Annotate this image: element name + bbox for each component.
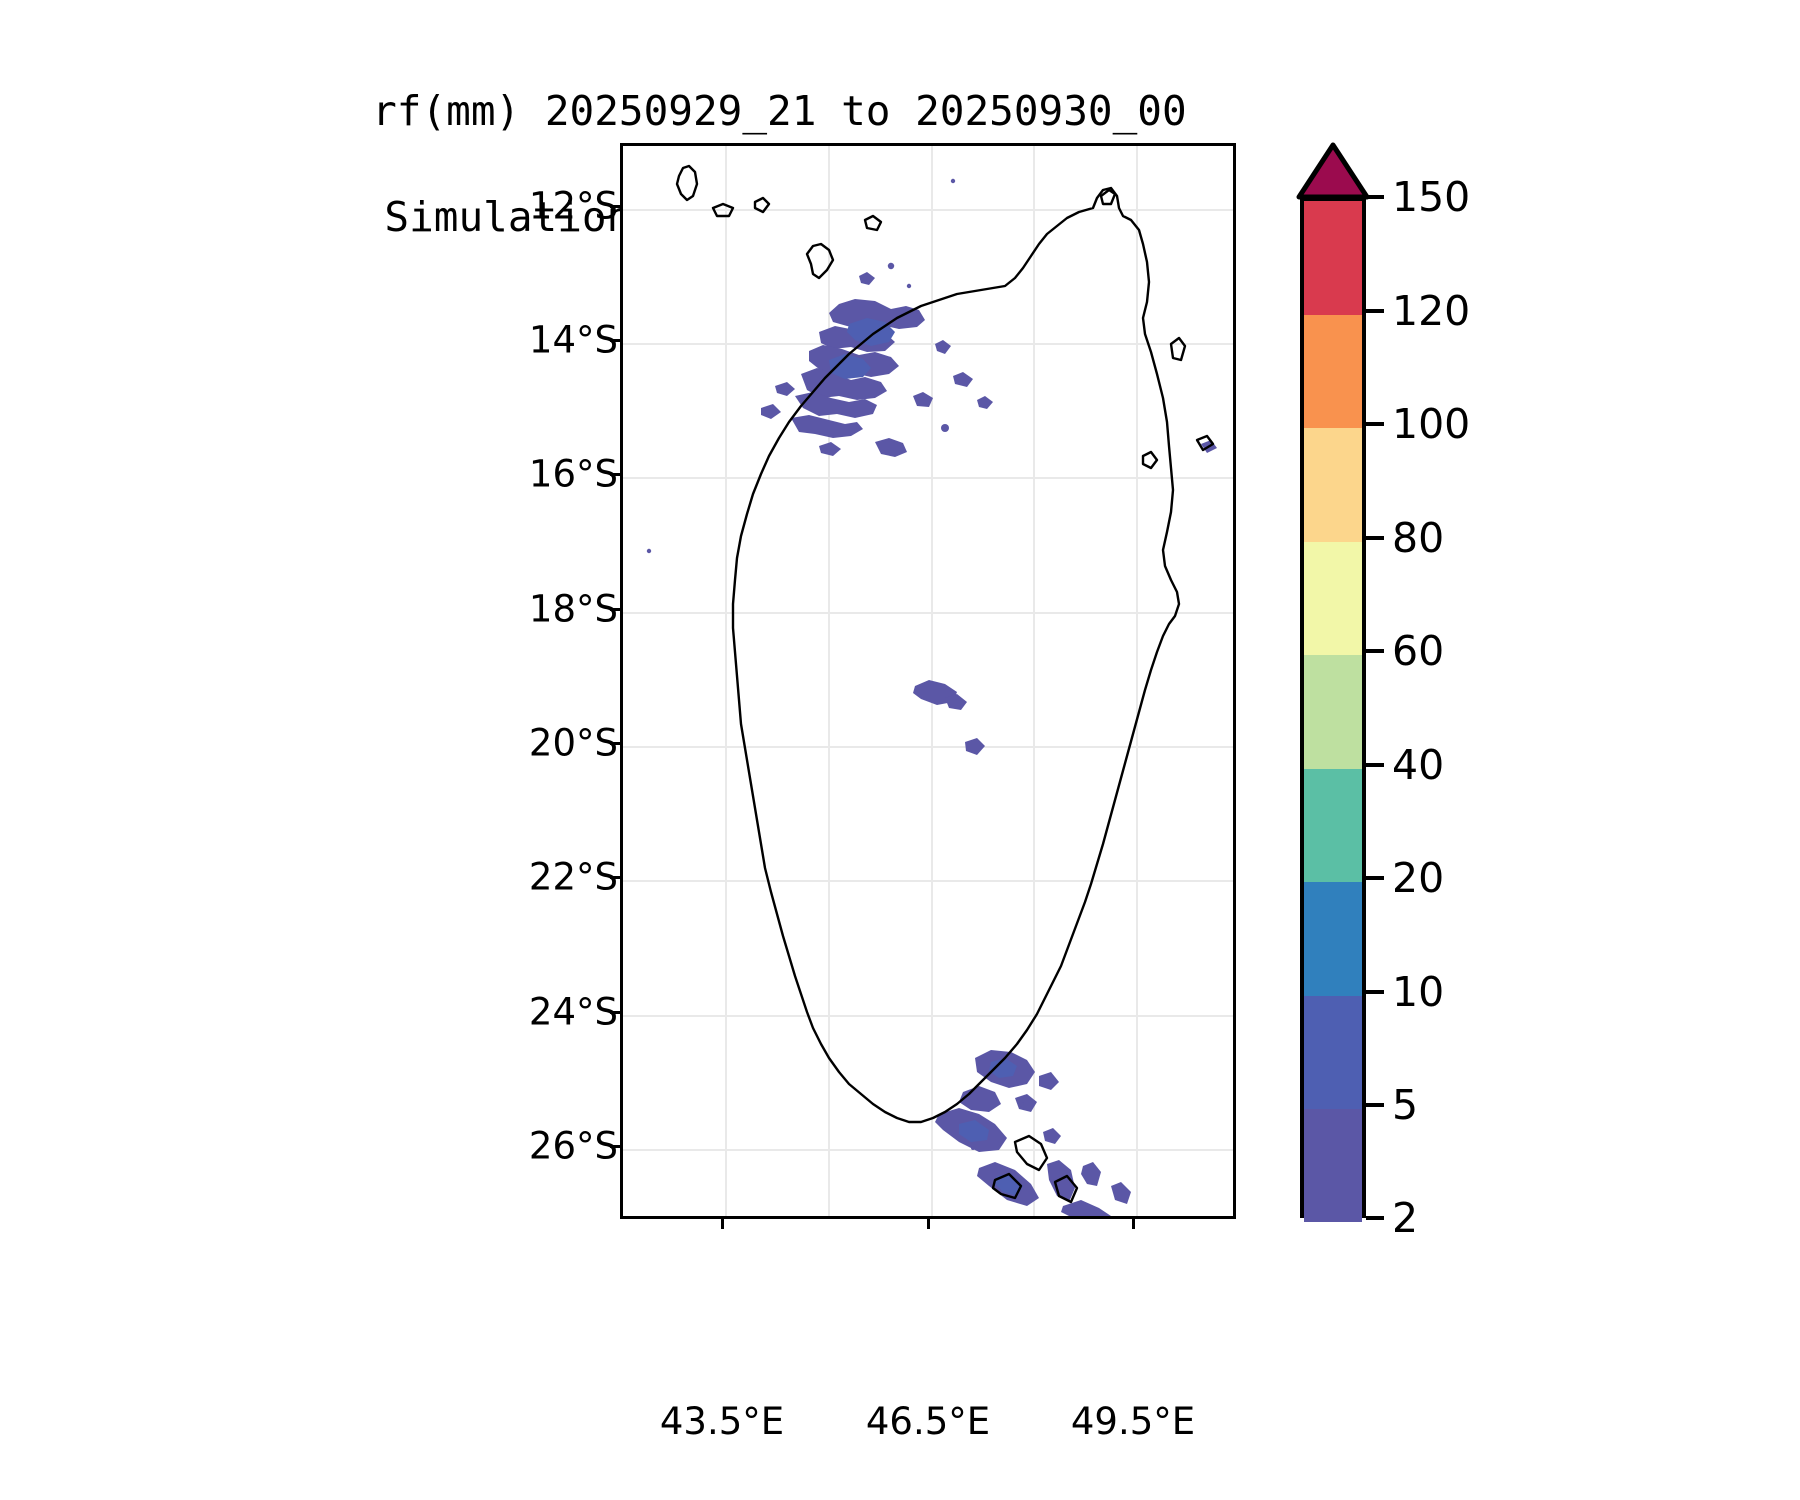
ytick-mark-22S: [610, 876, 620, 879]
colorbar-segment-20-40: [1304, 769, 1362, 882]
ytick-mark-14S: [610, 339, 620, 342]
colorbar-tick-40: [1366, 763, 1384, 767]
colorbar-tick-5: [1366, 1103, 1384, 1107]
ytick-label-26S: 26°S: [529, 1125, 618, 1168]
colorbar-tick-120: [1366, 309, 1384, 313]
colorbar-segment-60-80: [1304, 542, 1362, 655]
colorbar-tick-100: [1366, 422, 1384, 426]
colorbar-segment-2-5: [1304, 1109, 1362, 1222]
xtick-label-43-5E: 43.5°E: [660, 1400, 784, 1443]
colorbar-tick-150: [1366, 195, 1384, 199]
xtick-mark-46-5E: [927, 1219, 930, 1229]
colorbar-label-80: 80: [1392, 514, 1444, 562]
colorbar-tick-80: [1366, 536, 1384, 540]
map-axes: [620, 143, 1236, 1219]
colorbar-tick-60: [1366, 649, 1384, 653]
ytick-mark-18S: [610, 608, 620, 611]
colorbar-segment-10-20: [1304, 882, 1362, 996]
ytick-mark-12S: [610, 205, 620, 208]
colorbar[interactable]: [1300, 197, 1366, 1218]
colorbar-segment-80-100: [1304, 428, 1362, 542]
colorbar-segment-5-10: [1304, 996, 1362, 1109]
ytick-label-12S: 12°S: [529, 185, 618, 228]
colorbar-tick-2: [1366, 1216, 1384, 1220]
coastline-layer: [623, 146, 1233, 1216]
colorbar-extend-arrow: [1296, 142, 1370, 200]
colorbar-tick-20: [1366, 876, 1384, 880]
colorbar-label-20: 20: [1392, 854, 1444, 902]
colorbar-label-60: 60: [1392, 627, 1444, 675]
ytick-mark-26S: [610, 1145, 620, 1148]
ytick-label-24S: 24°S: [529, 991, 618, 1034]
ytick-label-14S: 14°S: [529, 319, 618, 362]
ytick-mark-20S: [610, 742, 620, 745]
xtick-label-49-5E: 49.5°E: [1071, 1400, 1195, 1443]
colorbar-segment-40-60: [1304, 655, 1362, 769]
ytick-label-20S: 20°S: [529, 722, 618, 765]
colorbar-label-2: 2: [1392, 1194, 1418, 1242]
ytick-label-22S: 22°S: [529, 856, 618, 899]
colorbar-label-150: 150: [1392, 173, 1470, 221]
colorbar-tick-10: [1366, 990, 1384, 994]
title-line-1: rf(mm) 20250929_21 to 20250930_00: [372, 87, 1187, 135]
colorbar-label-40: 40: [1392, 741, 1444, 789]
colorbar-label-5: 5: [1392, 1081, 1418, 1129]
xtick-mark-43-5E: [721, 1219, 724, 1229]
colorbar-segment-100-120: [1304, 315, 1362, 428]
ytick-label-16S: 16°S: [529, 453, 618, 496]
colorbar-segment-120-150: [1304, 201, 1362, 315]
ytick-label-18S: 18°S: [529, 588, 618, 631]
xtick-mark-49-5E: [1132, 1219, 1135, 1229]
colorbar-label-120: 120: [1392, 287, 1470, 335]
colorbar-label-10: 10: [1392, 968, 1444, 1016]
ytick-mark-24S: [610, 1011, 620, 1014]
xtick-label-46-5E: 46.5°E: [866, 1400, 990, 1443]
colorbar-label-100: 100: [1392, 400, 1470, 448]
map-plot-area: [623, 146, 1233, 1216]
ytick-mark-16S: [610, 473, 620, 476]
figure-canvas: rf(mm) 20250929_21 to 20250930_00 Simula…: [0, 0, 1800, 1500]
